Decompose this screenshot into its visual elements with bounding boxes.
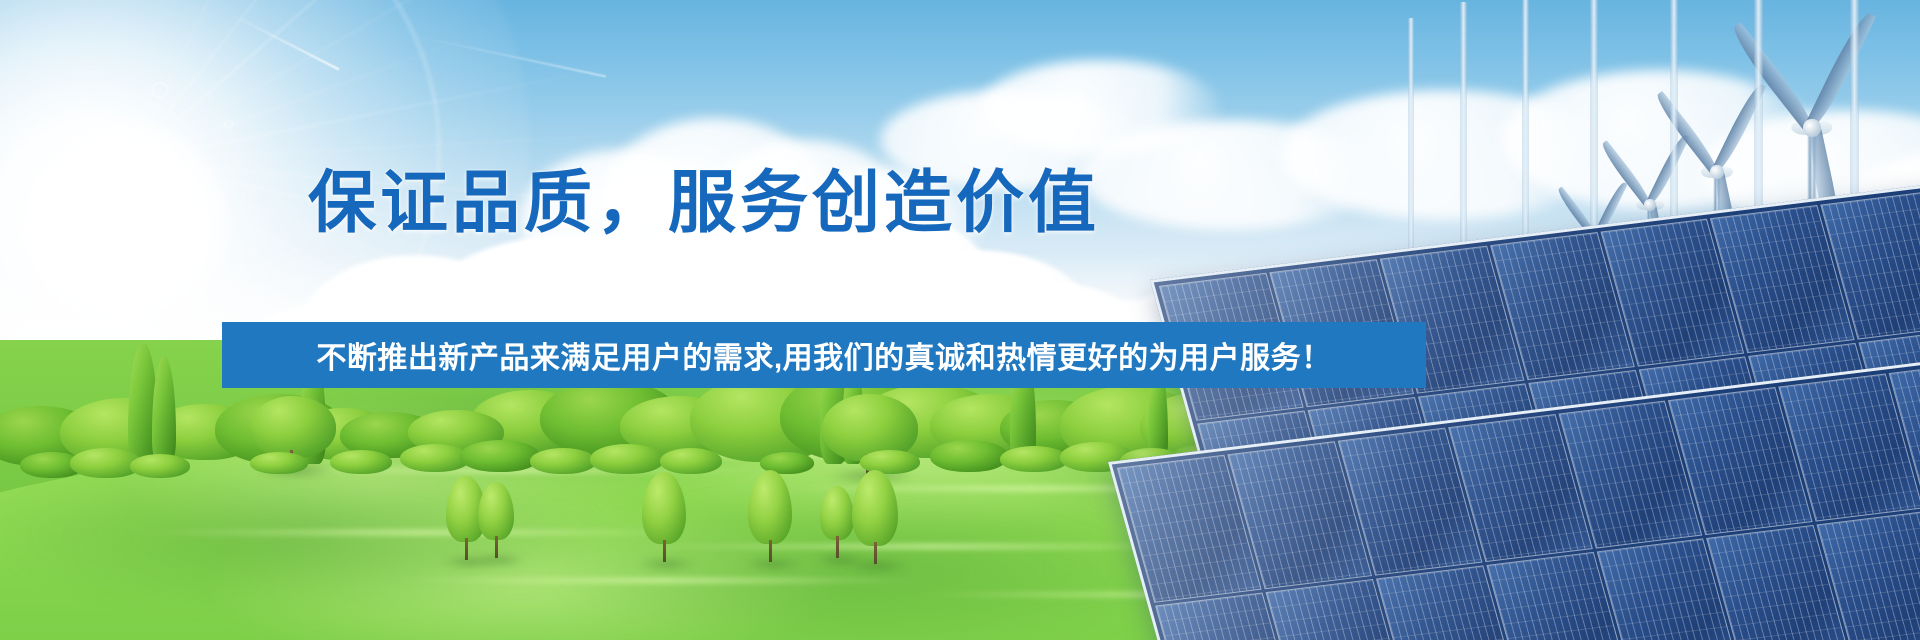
tree-shadow: [474, 554, 524, 566]
hero-banner: 保证品质，服务创造价值 不断推出新产品来满足用户的需求,用我们的真诚和热情更好的…: [0, 0, 1920, 640]
sapling-crown: [820, 486, 854, 540]
tree-shadow: [638, 558, 696, 570]
meadow-bush: [930, 440, 1008, 472]
meadow-bush: [250, 452, 308, 474]
subtitle-text: 不断推出新产品来满足用户的需求,用我们的真诚和热情更好的为用户服务！: [316, 333, 1331, 377]
tree-shadow: [744, 558, 802, 570]
meadow-tree: [250, 396, 336, 458]
meadow-bush: [530, 448, 596, 474]
tree-shadow: [848, 560, 908, 572]
page-title: 保证品质，服务创造价值: [308, 167, 1100, 240]
meadow-bush: [330, 450, 392, 474]
sapling-crown: [478, 482, 514, 540]
subtitle-bar: 不断推出新产品来满足用户的需求,用我们的真诚和热情更好的为用户服务！: [222, 322, 1426, 388]
meadow-bush: [1000, 446, 1068, 472]
meadow-bush: [660, 448, 722, 474]
meadow-bush: [130, 454, 190, 478]
meadow-bush: [460, 440, 540, 472]
sapling-crown: [748, 470, 792, 544]
meadow-bush: [590, 444, 664, 474]
sapling-crown: [642, 472, 686, 544]
